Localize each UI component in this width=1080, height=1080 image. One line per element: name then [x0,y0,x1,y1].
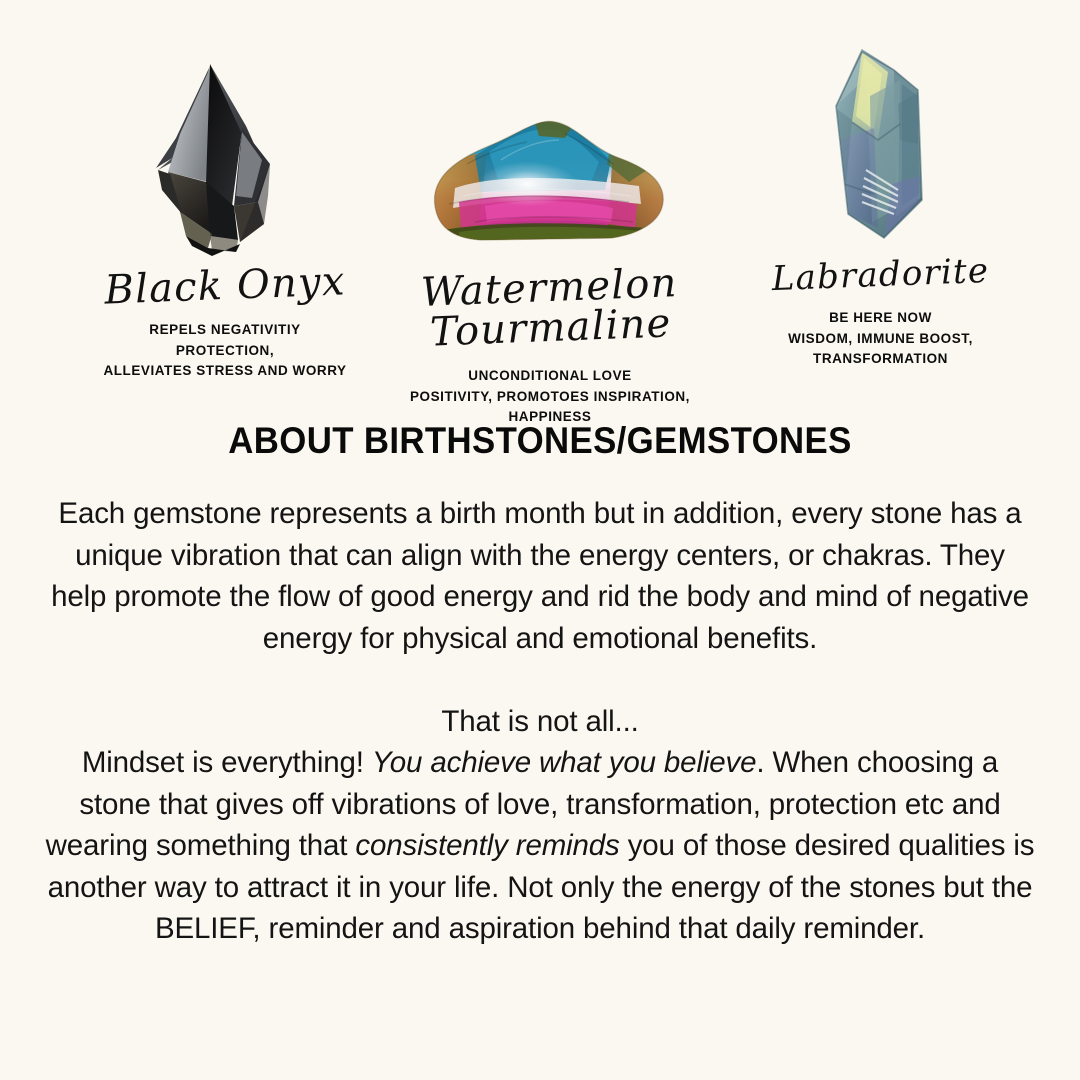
gemstone-info-poster: Black Onyx REPELS NEGATIVITIY PROTECTION… [0,0,1080,1080]
page-title: ABOUT BIRTHSTONES/GEMSTONES [32,420,1047,462]
stone-property-line: POSITIVITY, PROMOTOES INSPIRATION, [360,387,740,408]
paragraph-2-emphasis-1: You achieve what you believe [372,746,757,779]
stone-card-watermelon-tourmaline: Watermelon Tourmaline UNCONDITIONAL LOVE… [360,44,740,428]
stone-property-line: PROTECTION, [40,341,410,362]
article-body: Each gemstone represents a birth month b… [44,493,1036,950]
stone-properties-labradorite: BE HERE NOW WISDOM, IMMUNE BOOST, TRANSF… [718,308,1043,370]
stone-property-line: BE HERE NOW [718,308,1043,329]
watermelon-tourmaline-crystal-icon [360,44,740,256]
stone-property-line: ALLEVIATES STRESS AND WORRY [40,361,410,382]
paragraph-spacer [44,659,1036,701]
stones-row: Black Onyx REPELS NEGATIVITIY PROTECTION… [0,0,1080,400]
stone-property-line: REPELS NEGATIVITIY [40,320,410,341]
article-paragraph-2: Mindset is everything! You achieve what … [44,742,1036,950]
article-lead-in: That is not all... [44,701,1036,743]
labradorite-crystal-icon [718,32,1043,244]
stone-property-line: UNCONDITIONAL LOVE [360,366,740,387]
stone-name-labradorite: Labradorite [717,252,1043,298]
paragraph-2-emphasis-2: consistently reminds [355,829,619,862]
stone-name-watermelon-tourmaline: Watermelon Tourmaline [359,261,742,356]
article-paragraph-1: Each gemstone represents a birth month b… [44,493,1036,659]
stone-properties-black-onyx: REPELS NEGATIVITIY PROTECTION, ALLEVIATE… [40,320,410,382]
stone-card-black-onyx: Black Onyx REPELS NEGATIVITIY PROTECTION… [40,44,410,382]
paragraph-2-text-1: Mindset is everything! [82,746,372,779]
stone-property-line: TRANSFORMATION [718,349,1043,370]
stone-card-labradorite: Labradorite BE HERE NOW WISDOM, IMMUNE B… [718,32,1043,370]
black-onyx-crystal-icon [40,44,410,256]
stone-property-line: WISDOM, IMMUNE BOOST, [718,329,1043,350]
stone-name-black-onyx: Black Onyx [39,259,410,313]
stone-properties-watermelon-tourmaline: UNCONDITIONAL LOVE POSITIVITY, PROMOTOES… [360,366,740,428]
